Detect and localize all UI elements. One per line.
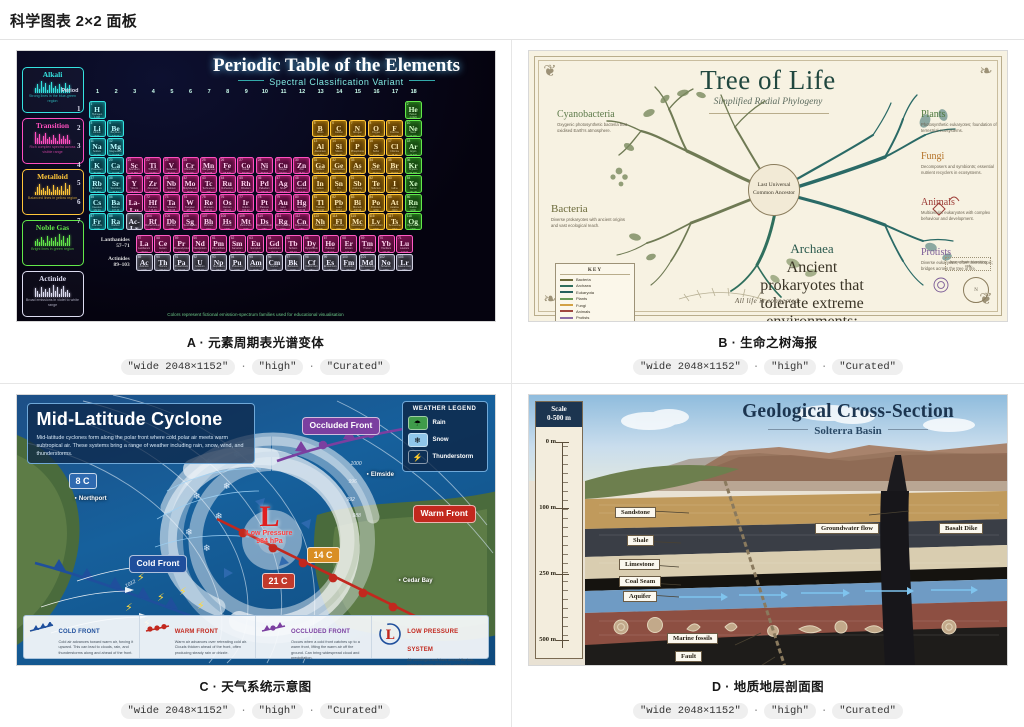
element-cell-La-Lu[interactable]: La-LuLanthanides bbox=[126, 194, 143, 212]
atomic-number: 33 bbox=[351, 158, 355, 162]
atomic-number: 54 bbox=[407, 176, 411, 180]
atomic-number: 117 bbox=[388, 214, 393, 218]
element-cell-Gd[interactable]: 64GdGadolinium157.25 bbox=[266, 235, 283, 253]
cyclone-figure: ❄❄ ❄❄ ❄❄ ❄❄ ⚡⚡ ⚡⚡ ⚡⚡ bbox=[17, 395, 495, 665]
element-cell-Ho[interactable]: 67HoHolmium164.93 bbox=[322, 235, 339, 253]
atomic-mass: 18.998 bbox=[387, 135, 402, 137]
atomic-number: 20 bbox=[109, 158, 113, 162]
atomic-mass: 39.948 bbox=[406, 154, 421, 156]
atomic-number: 75 bbox=[202, 195, 206, 199]
element-cell-Ba[interactable]: 56BaBarium137.33 bbox=[107, 194, 124, 212]
atomic-mass: 88.906 bbox=[127, 191, 142, 193]
label-desc: Oxygenic photosynthetic bacteria that ox… bbox=[557, 122, 635, 134]
label-desc: Diverse prokaryotes with ancient origins… bbox=[551, 217, 629, 229]
element-cell-Sn[interactable]: 50SnTin118.71 bbox=[330, 175, 347, 193]
atomic-number: 45 bbox=[239, 176, 243, 180]
atomic-mass: (269) bbox=[183, 228, 198, 230]
element-cell-Lr[interactable]: 103LrLawrencium(266) bbox=[396, 254, 413, 272]
element-cell-B[interactable]: 5BBoron10.81 bbox=[312, 120, 329, 138]
key-item: Eukaryota bbox=[560, 290, 630, 295]
minor-tick bbox=[562, 482, 568, 483]
page-title: 科学图表 2×2 面板 bbox=[0, 0, 1024, 39]
element-cell-Ta[interactable]: 73TaTantalum180.95 bbox=[163, 194, 180, 212]
atomic-mass: (268) bbox=[164, 228, 179, 230]
atomic-number: 38 bbox=[109, 176, 113, 180]
atomic-number: 23 bbox=[165, 158, 169, 162]
element-cell-Cf[interactable]: 98CfCalifornium(251) bbox=[303, 254, 320, 272]
layer-label-aquifer: Aquifer bbox=[623, 591, 657, 602]
element-cell-Th[interactable]: 90ThThorium232.04 bbox=[154, 254, 171, 272]
low-label: Low Pressure bbox=[247, 530, 293, 537]
element-cell-Xe[interactable]: 54XeXenon131.29 bbox=[405, 175, 422, 193]
atomic-number: 62 bbox=[231, 236, 235, 240]
atomic-number: 103 bbox=[398, 255, 403, 259]
element-cell-Ce[interactable]: 58CeCerium140.12 bbox=[154, 235, 171, 253]
atomic-number: 2 bbox=[407, 102, 409, 106]
atomic-number: 43 bbox=[202, 176, 206, 180]
element-cell-Ti[interactable]: 22TiTitanium47.867 bbox=[144, 157, 161, 175]
element-cell-Ca[interactable]: 20CaCalcium40.078 bbox=[107, 157, 124, 175]
cyclone-title: Mid-Latitude Cyclone bbox=[37, 409, 245, 430]
element-cell-Ga[interactable]: 31GaGallium69.723 bbox=[312, 157, 329, 175]
element-cell-Cm[interactable]: 96CmCurium(247) bbox=[266, 254, 283, 272]
atomic-mass: (247) bbox=[286, 269, 301, 271]
atomic-mass: 32.06 bbox=[369, 154, 384, 156]
atomic-mass: 74.922 bbox=[350, 172, 365, 174]
element-cell-Yb[interactable]: 70YbYtterbium173.05 bbox=[378, 235, 395, 253]
meta-source: "Curated" bbox=[832, 359, 903, 375]
group-header: 17 bbox=[386, 89, 404, 95]
atomic-number: 53 bbox=[388, 176, 392, 180]
atomic-mass: 127.60 bbox=[369, 191, 384, 193]
element-cell-Tc[interactable]: 43TcTechnetium(98) bbox=[200, 175, 217, 193]
element-cell-Po[interactable]: 84PoPolonium(209) bbox=[368, 194, 385, 212]
atomic-number: 49 bbox=[314, 176, 318, 180]
figure-tree-of-life[interactable]: ❦ ❧ ❧ ❦ Tree of Life Simplified Radial P… bbox=[528, 50, 1008, 322]
element-cell-Tm[interactable]: 69TmThulium168.93 bbox=[359, 235, 376, 253]
element-cell-Ge[interactable]: 32GeGermanium72.630 bbox=[330, 157, 347, 175]
element-cell-Os[interactable]: 76OsOsmium190.23 bbox=[219, 194, 236, 212]
element-cell-Rg[interactable]: 111RgRoentgenium(282) bbox=[275, 213, 292, 231]
front-legend-title: COLD FRONT bbox=[59, 629, 100, 635]
weather-legend-label: Rain bbox=[433, 420, 446, 426]
front-legend-warm-front: WARM FRONTWarm air advances over retreat… bbox=[140, 616, 256, 658]
atomic-number: 60 bbox=[194, 236, 198, 240]
meta-sep: · bbox=[240, 705, 246, 717]
element-cell-Sb[interactable]: 51SbAntimony121.76 bbox=[349, 175, 366, 193]
meta-quality: "high" bbox=[764, 703, 816, 719]
element-cell-P[interactable]: 15PPhosphorus30.974 bbox=[349, 138, 366, 156]
callout-warm-front: Warm Front bbox=[413, 505, 476, 523]
element-cell-Ag[interactable]: 47AgSilver107.87 bbox=[275, 175, 292, 193]
atomic-number: 111 bbox=[277, 214, 282, 218]
geology-title: Geological Cross-Section bbox=[703, 401, 993, 423]
element-cell-Ne[interactable]: 10NeNeon20.180 bbox=[405, 120, 422, 138]
svg-text:❄: ❄ bbox=[193, 492, 201, 502]
atomic-number: 5 bbox=[314, 121, 316, 125]
atomic-number: 113 bbox=[314, 214, 319, 218]
atomic-mass: (282) bbox=[276, 228, 291, 230]
meta-sep: · bbox=[753, 361, 759, 373]
key-swatch bbox=[560, 310, 573, 312]
city-elmside: Elmside bbox=[367, 471, 394, 478]
key-swatch bbox=[560, 317, 573, 319]
atomic-mass: 95.95 bbox=[183, 191, 198, 193]
panel-c: ❄❄ ❄❄ ❄❄ ❄❄ ⚡⚡ ⚡⚡ ⚡⚡ bbox=[0, 384, 512, 727]
atomic-number: 115 bbox=[351, 214, 356, 218]
element-cell-Be[interactable]: 4BeBeryllium9.0122 bbox=[107, 120, 124, 138]
weather-legend-title: WEATHER LEGEND bbox=[408, 406, 482, 412]
element-cell-U[interactable]: 92UUranium238.03 bbox=[192, 254, 209, 272]
atomic-mass: (269) bbox=[220, 228, 235, 230]
figure-geology[interactable]: Geological Cross-Section Solterra Basin … bbox=[528, 394, 1008, 666]
atomic-number: 46 bbox=[258, 176, 262, 180]
element-cell-Fl[interactable]: 114FlFlerovium(289) bbox=[330, 213, 347, 231]
atomic-mass: 9.0122 bbox=[108, 135, 123, 137]
element-cell-He[interactable]: 2HeHelium4.0026 bbox=[405, 101, 422, 119]
label-desc: Ancient prokaryotes that tolerate extrem… bbox=[757, 259, 867, 322]
atomic-mass: 126.90 bbox=[387, 191, 402, 193]
element-cell-Re[interactable]: 75ReRhenium186.21 bbox=[200, 194, 217, 212]
cyclone-description: Mid-latitude cyclones form along the pol… bbox=[37, 434, 245, 458]
figure-cyclone[interactable]: ❄❄ ❄❄ ❄❄ ❄❄ ⚡⚡ ⚡⚡ ⚡⚡ bbox=[16, 394, 496, 666]
group-header: 12 bbox=[293, 89, 311, 95]
label-desc: Multicellular eukaryotes with complex be… bbox=[921, 210, 999, 222]
element-cell-As[interactable]: 33AsArsenic74.922 bbox=[349, 157, 366, 175]
element-cell-Db[interactable]: 105DbDubnium(268) bbox=[163, 213, 180, 231]
minor-tick bbox=[562, 473, 568, 474]
panel-b: ❦ ❧ ❧ ❦ Tree of Life Simplified Radial P… bbox=[512, 40, 1024, 384]
atomic-number: 57 bbox=[138, 236, 142, 240]
element-cell-Ra[interactable]: 88RaRadium(226) bbox=[107, 213, 124, 231]
group-header: 13 bbox=[312, 89, 330, 95]
element-cell-C[interactable]: 6CCarbon12.011 bbox=[330, 120, 347, 138]
period-label: 4 bbox=[47, 161, 81, 169]
meta-quality: "high" bbox=[252, 359, 304, 375]
element-cell-Hg[interactable]: 80HgMercury200.59 bbox=[293, 194, 310, 212]
element-cell-F[interactable]: 9FFluorine18.998 bbox=[386, 120, 403, 138]
element-cell-Pu[interactable]: 94PuPlutonium(244) bbox=[229, 254, 246, 272]
atomic-mass: 118.71 bbox=[331, 191, 346, 193]
element-cell-Fr[interactable]: 87FrFrancium(223) bbox=[89, 213, 106, 231]
svg-text:⚡: ⚡ bbox=[137, 571, 145, 584]
atomic-number: 32 bbox=[332, 158, 336, 162]
scale-header: Scale 0-500 m bbox=[536, 402, 582, 427]
element-cell-Dy[interactable]: 66DyDysprosium162.50 bbox=[303, 235, 320, 253]
element-cell-Og[interactable]: 118OgOganesson(294) bbox=[405, 213, 422, 231]
atomic-number: 11 bbox=[91, 139, 94, 143]
luca-label: Last Universal Common Ancestor bbox=[749, 182, 799, 197]
atomic-mass: 232.04 bbox=[155, 269, 170, 271]
key-item: Animals bbox=[560, 309, 630, 314]
element-cell-Fm[interactable]: 100FmFermium(257) bbox=[340, 254, 357, 272]
atomic-mass: 144.24 bbox=[193, 251, 208, 253]
group-header: 2 bbox=[107, 89, 125, 95]
atomic-mass: (290) bbox=[350, 228, 365, 230]
low-symbol: L bbox=[247, 505, 293, 529]
minor-tick bbox=[562, 491, 568, 492]
scale-range: 0-500 m bbox=[536, 414, 582, 423]
element-cell-S[interactable]: 16SSulfur32.06 bbox=[368, 138, 385, 156]
element-cell-Sm[interactable]: 62SmSamarium150.36 bbox=[229, 235, 246, 253]
element-cell-Bh[interactable]: 107BhBohrium(270) bbox=[200, 213, 217, 231]
group-header: 6 bbox=[182, 89, 200, 95]
spectrum-icon bbox=[26, 233, 80, 246]
periodic-title: Periodic Table of the Elements bbox=[187, 55, 487, 77]
layer-label-shale: Shale bbox=[627, 535, 654, 546]
isobar-label: 988 bbox=[353, 513, 361, 519]
element-cell-O[interactable]: 8OOxygen15.999 bbox=[368, 120, 385, 138]
element-cell-Rf[interactable]: 104RfRutherfordium(267) bbox=[144, 213, 161, 231]
element-cell-Pr[interactable]: 59PrPraseodymium140.91 bbox=[173, 235, 190, 253]
periodic-subtitle: Spectral Classification Variant bbox=[187, 77, 487, 87]
atomic-number: 10 bbox=[407, 121, 411, 125]
atomic-mass: 167.26 bbox=[341, 251, 356, 253]
city-cedar-bay: Cedar Bay bbox=[399, 577, 433, 584]
atomic-number: 88 bbox=[109, 214, 113, 218]
atomic-mass: 140.91 bbox=[174, 251, 189, 253]
element-cell-Lv[interactable]: 116LvLivermorium(293) bbox=[368, 213, 385, 231]
atomic-mass: 131.29 bbox=[406, 191, 421, 193]
element-cell-Na[interactable]: 11NaSodium22.990 bbox=[89, 138, 106, 156]
element-cell-Pt[interactable]: 78PtPlatinum195.08 bbox=[256, 194, 273, 212]
period-label: 1 bbox=[47, 105, 81, 113]
element-cell-Li[interactable]: 3LiLithium6.94 bbox=[89, 120, 106, 138]
layer-label-coal-seam: Coal Seam bbox=[619, 576, 661, 587]
svg-text:⚡: ⚡ bbox=[157, 591, 165, 604]
element-cell-Mg[interactable]: 12MgMagnesium24.305 bbox=[107, 138, 124, 156]
atomic-number: 76 bbox=[221, 195, 225, 199]
element-cell-Kr[interactable]: 36KrKrypton83.798 bbox=[405, 157, 422, 175]
element-cell-Cu[interactable]: 29CuCopper63.546 bbox=[275, 157, 292, 175]
meta-sep: · bbox=[821, 361, 827, 373]
atomic-mass: (294) bbox=[387, 228, 402, 230]
element-cell-Rn[interactable]: 86RnRadon(222) bbox=[405, 194, 422, 212]
atomic-mass: (237) bbox=[211, 269, 226, 271]
tree-label-cyanobacteria: Cyanobacteria Oxygenic photosynthetic ba… bbox=[557, 109, 635, 134]
element-cell-Nh[interactable]: 113NhNihonium(286) bbox=[312, 213, 329, 231]
element-cell-Er[interactable]: 68ErErbium167.26 bbox=[340, 235, 357, 253]
atomic-number: 79 bbox=[277, 195, 281, 199]
atomic-mass: 92.906 bbox=[164, 191, 179, 193]
element-cell-Cn[interactable]: 112CnCopernicium(285) bbox=[293, 213, 310, 231]
atomic-mass: 79.904 bbox=[387, 172, 402, 174]
element-cell-Pm[interactable]: 61PmPromethium(145) bbox=[210, 235, 227, 253]
group-header: 5 bbox=[163, 89, 181, 95]
atomic-number: 50 bbox=[332, 176, 336, 180]
approx-note: Approximate branching only bbox=[945, 257, 991, 271]
element-cell-Al[interactable]: 13AlAluminium26.982 bbox=[312, 138, 329, 156]
atomic-number: 51 bbox=[351, 176, 355, 180]
atomic-number: 59 bbox=[175, 236, 179, 240]
atomic-mass: (252) bbox=[323, 269, 338, 271]
element-cell-Sr[interactable]: 38SrStrontium87.62 bbox=[107, 175, 124, 193]
key-swatch bbox=[560, 291, 573, 293]
element-cell-Tb[interactable]: 65TbTerbium158.93 bbox=[285, 235, 302, 253]
element-cell-Ds[interactable]: 110DsDarmstadtium(281) bbox=[256, 213, 273, 231]
atomic-number: 67 bbox=[324, 236, 328, 240]
period-label: 5 bbox=[47, 179, 81, 187]
element-cell-V[interactable]: 23VVanadium50.942 bbox=[163, 157, 180, 175]
element-cell-N[interactable]: 7NNitrogen14.007 bbox=[349, 120, 366, 138]
atomic-mass: 180.95 bbox=[164, 209, 179, 211]
tree-of-life-figure: ❦ ❧ ❧ ❦ Tree of Life Simplified Radial P… bbox=[529, 51, 1007, 321]
element-cell-At[interactable]: 85AtAstatine(210) bbox=[386, 194, 403, 212]
element-cell-Ir[interactable]: 77IrIridium192.22 bbox=[237, 194, 254, 212]
atomic-mass: (278) bbox=[238, 228, 253, 230]
element-cell-Am[interactable]: 95AmAmericium(243) bbox=[247, 254, 264, 272]
meta-sep: · bbox=[308, 361, 314, 373]
front-legend-desc: Warm air advances over retreating cold a… bbox=[175, 640, 250, 657]
element-cell-W[interactable]: 74WTungsten183.84 bbox=[182, 194, 199, 212]
element-cell-Es[interactable]: 99EsEinsteinium(252) bbox=[322, 254, 339, 272]
element-cell-Ac[interactable]: 89AcActinium(227) bbox=[136, 254, 153, 272]
cyclone-title-box: Mid-Latitude Cyclone Mid-latitude cyclon… bbox=[27, 403, 255, 464]
tree-footer: All life is connected. bbox=[529, 297, 1007, 305]
element-cell-Hf[interactable]: 72HfHafnium178.49 bbox=[144, 194, 161, 212]
element-cell-Cs[interactable]: 55CsCaesium132.91 bbox=[89, 194, 106, 212]
atomic-mass: 6.94 bbox=[90, 135, 105, 137]
element-cell-No[interactable]: 102NoNobelium(259) bbox=[378, 254, 395, 272]
atomic-mass: 12.011 bbox=[331, 135, 346, 137]
atomic-number: 7 bbox=[351, 121, 353, 125]
element-cell-In[interactable]: 49InIndium114.82 bbox=[312, 175, 329, 193]
tree-label-animals: Animals Multicellular eukaryotes with co… bbox=[921, 197, 999, 222]
element-cell-H[interactable]: 1HHydrogen1.008 bbox=[89, 101, 106, 119]
element-cell-Mt[interactable]: 109MtMeitnerium(278) bbox=[237, 213, 254, 231]
svg-text:❄: ❄ bbox=[203, 544, 211, 554]
tree-label-fungi: Fungi Decomposers and symbionts; essenti… bbox=[921, 151, 999, 176]
element-cell-Mc[interactable]: 115McMoscovium(290) bbox=[349, 213, 366, 231]
element-cell-Md[interactable]: 101MdMendelevium(258) bbox=[359, 254, 376, 272]
atomic-number: 109 bbox=[239, 214, 244, 218]
atomic-mass: 35.45 bbox=[387, 154, 402, 156]
group-header: 10 bbox=[256, 89, 274, 95]
panel-d-caption: D · 地质地层剖面图 bbox=[712, 676, 824, 695]
element-cell-Eu[interactable]: 63EuEuropium151.96 bbox=[247, 235, 264, 253]
element-cell-Nd[interactable]: 60NdNeodymium144.24 bbox=[192, 235, 209, 253]
front-legend-title: OCCLUDED FRONT bbox=[291, 629, 350, 635]
atomic-mass: 4.0026 bbox=[406, 116, 421, 118]
element-cell-Tl[interactable]: 81TlThallium204.38 bbox=[312, 194, 329, 212]
atomic-mass: 54.938 bbox=[201, 172, 216, 174]
depth-label: 250 m bbox=[539, 570, 556, 577]
element-cell-I[interactable]: 53IIodine126.90 bbox=[386, 175, 403, 193]
legend-name: Actinide bbox=[26, 274, 80, 283]
atomic-mass: 14.007 bbox=[350, 135, 365, 137]
element-cell-Rb[interactable]: 37RbRubidium85.468 bbox=[89, 175, 106, 193]
element-cell-Br[interactable]: 35BrBromine79.904 bbox=[386, 157, 403, 175]
element-cell-Cr[interactable]: 24CrChromium51.996 bbox=[182, 157, 199, 175]
atomic-mass: 138.91 bbox=[137, 251, 152, 253]
element-cell-Mn[interactable]: 25MnManganese54.938 bbox=[200, 157, 217, 175]
leader-line bbox=[671, 541, 699, 542]
atomic-mass: 102.91 bbox=[238, 191, 253, 193]
element-cell-Nb[interactable]: 41NbNiobium92.906 bbox=[163, 175, 180, 193]
element-cell-Y[interactable]: 39YYttrium88.906 bbox=[126, 175, 143, 193]
element-cell-Zr[interactable]: 40ZrZirconium91.224 bbox=[144, 175, 161, 193]
element-cell-Se[interactable]: 34SeSelenium78.971 bbox=[368, 157, 385, 175]
atomic-mass: (258) bbox=[360, 269, 375, 271]
svg-text:⚡: ⚡ bbox=[179, 585, 187, 598]
element-cell-Sc[interactable]: 21ScScandium44.956 bbox=[126, 157, 143, 175]
atomic-number: 18 bbox=[407, 139, 411, 143]
element-cell-Pa[interactable]: 91PaProtactinium231.04 bbox=[173, 254, 190, 272]
element-cell-Ac-Lr[interactable]: Ac-LrActinides bbox=[126, 213, 143, 231]
snow-icon: ❄ bbox=[408, 433, 428, 447]
element-cell-Au[interactable]: 79AuGold196.97 bbox=[275, 194, 292, 212]
element-cell-La[interactable]: 57LaLanthanum138.91 bbox=[136, 235, 153, 253]
element-cell-Bk[interactable]: 97BkBerkelium(247) bbox=[285, 254, 302, 272]
element-cell-Cd[interactable]: 48CdCadmium112.41 bbox=[293, 175, 310, 193]
minor-tick bbox=[562, 455, 568, 456]
geology-figure: Geological Cross-Section Solterra Basin … bbox=[529, 395, 1007, 665]
atomic-number: 87 bbox=[91, 214, 95, 218]
element-cell-Bi[interactable]: 83BiBismuth208.98 bbox=[349, 194, 366, 212]
element-cell-Ar[interactable]: 18ArArgon39.948 bbox=[405, 138, 422, 156]
atomic-mass: 192.22 bbox=[238, 209, 253, 211]
legend-box-noble-gas: Noble GasBright lines in green region bbox=[22, 220, 84, 266]
element-cell-Rh[interactable]: 45RhRhodium102.91 bbox=[237, 175, 254, 193]
element-cell-Mo[interactable]: 42MoMolybdenum95.95 bbox=[182, 175, 199, 193]
atomic-number: 70 bbox=[380, 236, 384, 240]
element-cell-Ni[interactable]: 28NiNickel58.693 bbox=[256, 157, 273, 175]
meta-source: "Curated" bbox=[320, 703, 391, 719]
key-item: Protists bbox=[560, 315, 630, 320]
element-cell-Te[interactable]: 52TeTellurium127.60 bbox=[368, 175, 385, 193]
atomic-number: 81 bbox=[314, 195, 318, 199]
atomic-number: 48 bbox=[295, 176, 299, 180]
atomic-mass: (145) bbox=[211, 251, 226, 253]
element-cell-Hs[interactable]: 108HsHassium(269) bbox=[219, 213, 236, 231]
element-cell-Co[interactable]: 27CoCobalt58.933 bbox=[237, 157, 254, 175]
layer-label-limestone: Limestone bbox=[619, 559, 660, 570]
atomic-mass: (259) bbox=[379, 269, 394, 271]
element-cell-Lu[interactable]: 71LuLutetium174.97 bbox=[396, 235, 413, 253]
atomic-mass: 112.41 bbox=[294, 191, 309, 193]
element-cell-Sg[interactable]: 106SgSeaborgium(269) bbox=[182, 213, 199, 231]
atomic-mass: 208.98 bbox=[350, 209, 365, 211]
element-cell-Ts[interactable]: 117TsTennessine(294) bbox=[386, 213, 403, 231]
key-label: Archaea bbox=[576, 283, 591, 288]
atomic-mass: (270) bbox=[201, 228, 216, 230]
isobar-label: 1000 bbox=[351, 461, 362, 467]
element-cell-Si[interactable]: 14SiSilicon28.085 bbox=[330, 138, 347, 156]
atomic-number: 64 bbox=[268, 236, 272, 240]
element-cell-Fe[interactable]: 26FeIron55.845 bbox=[219, 157, 236, 175]
atomic-number: 65 bbox=[287, 236, 291, 240]
element-cell-Np[interactable]: 93NpNeptunium(237) bbox=[210, 254, 227, 272]
front-legend-occluded-front: OCCLUDED FRONTOccurs when a cold front c… bbox=[256, 616, 372, 658]
element-cell-Cl[interactable]: 17ClChlorine35.45 bbox=[386, 138, 403, 156]
figure-periodic-table[interactable]: Periodic Table of the Elements Spectral … bbox=[16, 50, 496, 322]
atomic-mass: 158.93 bbox=[286, 251, 301, 253]
atomic-number: 26 bbox=[221, 158, 225, 162]
element-cell-Ru[interactable]: 44RuRuthenium101.07 bbox=[219, 175, 236, 193]
atomic-number: 61 bbox=[212, 236, 216, 240]
element-cell-Pd[interactable]: 46PdPalladium106.42 bbox=[256, 175, 273, 193]
atomic-number: 36 bbox=[407, 158, 411, 162]
legend-name: Alkali bbox=[26, 70, 80, 79]
label-desc: Decomposers and symbionts; essential nut… bbox=[921, 164, 999, 176]
minor-tick bbox=[562, 500, 568, 501]
feature-label-groundwater-flow: Groundwater flow bbox=[815, 523, 879, 534]
atomic-number: 86 bbox=[407, 195, 411, 199]
label-name: Bacteria bbox=[551, 203, 629, 215]
element-cell-K[interactable]: 19KPotassium39.098 bbox=[89, 157, 106, 175]
element-cell-Pb[interactable]: 82PbLead207.2 bbox=[330, 194, 347, 212]
element-cell-Zn[interactable]: 30ZnZinc65.38 bbox=[293, 157, 310, 175]
